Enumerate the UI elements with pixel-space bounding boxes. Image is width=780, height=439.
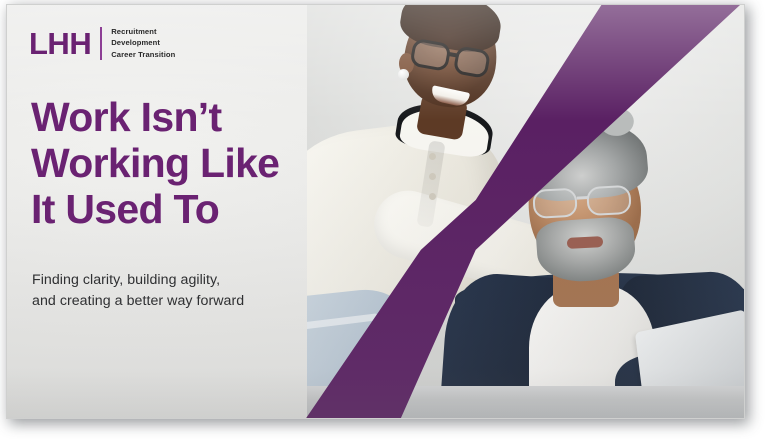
headline-line-1: Work Isn’t [31,95,331,141]
headline-line-3: It Used To [31,187,331,233]
logo-tagline-line-3: Career Transition [111,50,175,60]
logo-tagline-line-1: Recruitment [111,27,175,37]
headline-line-2: Working Like [31,141,331,187]
screenshot-canvas: LHH Recruitment Development Career Trans… [0,0,780,439]
marketing-slide: LHH Recruitment Development Career Trans… [6,4,745,419]
subhead-line-2: and creating a better way forward [32,291,332,312]
lhh-logo[interactable]: LHH Recruitment Development Career Trans… [29,27,175,60]
logo-tagline: Recruitment Development Career Transitio… [111,27,175,60]
logo-divider [100,27,102,60]
logo-tagline-line-2: Development [111,38,175,48]
subhead-line-1: Finding clarity, building agility, [32,270,332,291]
page-title: Work Isn’t Working Like It Used To [31,95,331,233]
logo-wordmark: LHH [29,28,91,59]
page-subtitle: Finding clarity, building agility, and c… [32,270,332,313]
